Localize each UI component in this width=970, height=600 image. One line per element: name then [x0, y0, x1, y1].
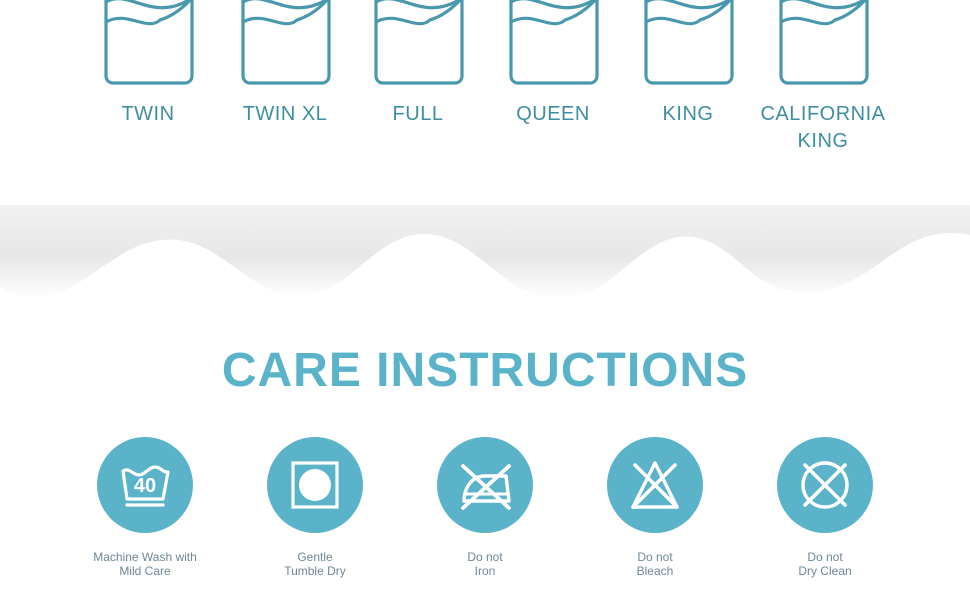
care-instructions-section: CARE INSTRUCTIONS 40 Machine Wash with M…: [0, 330, 970, 600]
care-item-label: Gentle Tumble Dry: [235, 550, 395, 578]
care-item-label: Do not Iron: [405, 550, 565, 578]
care-item-label: Do not Bleach: [575, 550, 735, 578]
wash-temperature-label: 40: [134, 475, 156, 497]
bed-icon: [613, 0, 763, 86]
product-info-page: TWIN TWIN XL: [0, 0, 970, 600]
care-instructions-title: CARE INSTRUCTIONS: [0, 346, 970, 396]
care-item-do-not-bleach: Do not Bleach: [575, 437, 735, 578]
bed-size-label: FULL: [343, 101, 493, 128]
care-item-tumble-dry: Gentle Tumble Dry: [235, 437, 395, 578]
bed-size-item: QUEEN: [478, 0, 628, 128]
bed-size-label: KING: [613, 101, 763, 128]
do-not-bleach-icon: [607, 437, 703, 533]
tumble-dry-icon: [267, 437, 363, 533]
care-item-machine-wash: 40 Machine Wash with Mild Care: [65, 437, 225, 578]
bed-icon: [748, 0, 898, 86]
bed-size-label: TWIN: [73, 101, 223, 128]
wave-divider: [0, 205, 970, 330]
bed-size-label: QUEEN: [478, 101, 628, 128]
bed-size-item: TWIN: [73, 0, 223, 128]
care-item-label: Do not Dry Clean: [745, 550, 905, 578]
do-not-iron-icon: [437, 437, 533, 533]
do-not-dry-clean-icon: [777, 437, 873, 533]
bed-size-label: CALIFORNIA KING: [748, 101, 898, 155]
care-item-do-not-dry-clean: Do not Dry Clean: [745, 437, 905, 578]
bed-size-section: TWIN TWIN XL: [0, 0, 970, 200]
bed-size-item: FULL: [343, 0, 493, 128]
care-item-do-not-iron: Do not Iron: [405, 437, 565, 578]
bed-icon: [210, 0, 360, 86]
bed-size-item: CALIFORNIA KING: [748, 0, 898, 155]
care-item-label: Machine Wash with Mild Care: [65, 550, 225, 578]
bed-icon: [343, 0, 493, 86]
bed-size-item: KING: [613, 0, 763, 128]
machine-wash-icon: 40: [97, 437, 193, 533]
bed-size-item: TWIN XL: [210, 0, 360, 128]
bed-icon: [73, 0, 223, 86]
bed-size-label: TWIN XL: [210, 101, 360, 128]
bed-icon: [478, 0, 628, 86]
care-icon-row: 40 Machine Wash with Mild Care Gentle Tu…: [0, 437, 970, 597]
